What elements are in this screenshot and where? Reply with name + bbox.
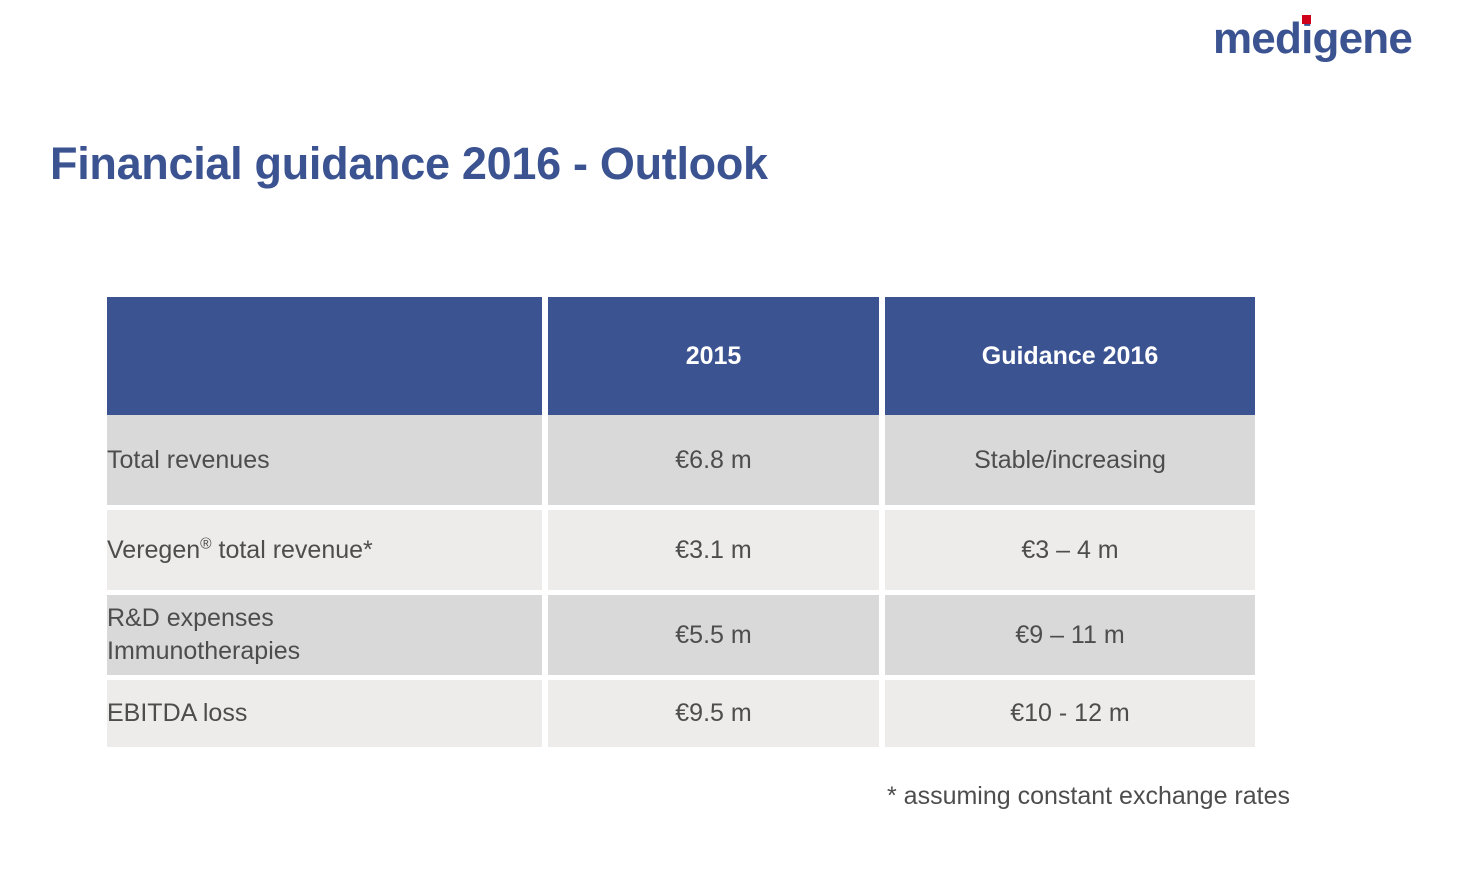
row-value-2016-ebitda-loss: €10 - 12 m (885, 680, 1255, 747)
veregen-suffix: total revenue* (212, 536, 373, 564)
financial-guidance-table: 2015 Guidance 2016 Total revenues €6.8 m… (107, 297, 1255, 747)
row-value-2015-rd-expenses: €5.5 m (548, 595, 885, 680)
row-label-veregen-total-revenue: Veregen® total revenue* (107, 510, 548, 595)
footnote-text: * assuming constant exchange rates (887, 782, 1290, 811)
row-label-ebitda-loss: EBITDA loss (107, 680, 548, 747)
column-header-guidance-2016: Guidance 2016 (885, 297, 1255, 415)
logo-letter-i: i (1301, 17, 1312, 61)
column-header-2015: 2015 (548, 297, 885, 415)
row-label-total-revenues: Total revenues (107, 415, 548, 510)
rd-expenses-line2: Immunotherapies (107, 637, 300, 665)
rd-expenses-line1: R&D expenses (107, 604, 274, 632)
medigene-logo: medigene (1213, 17, 1412, 61)
table-row: R&D expensesImmunotherapies €5.5 m €9 – … (107, 595, 1255, 680)
table-row: Veregen® total revenue* €3.1 m €3 – 4 m (107, 510, 1255, 595)
table-row: EBITDA loss €9.5 m €10 - 12 m (107, 680, 1255, 747)
row-label-rd-expenses-immunotherapies: R&D expensesImmunotherapies (107, 595, 548, 680)
veregen-name: Veregen (107, 536, 200, 564)
column-header-label (107, 297, 548, 415)
row-value-2016-total-revenues: Stable/increasing (885, 415, 1255, 510)
row-value-2016-rd-expenses: €9 – 11 m (885, 595, 1255, 680)
registered-trademark-icon: ® (200, 535, 211, 552)
page-title: Financial guidance 2016 - Outlook (50, 138, 768, 190)
logo-text-med: med (1213, 14, 1301, 63)
logo-red-dot-icon (1302, 15, 1311, 24)
table-header-row: 2015 Guidance 2016 (107, 297, 1255, 415)
logo-text-gene: gene (1313, 14, 1413, 63)
table-row: Total revenues €6.8 m Stable/increasing (107, 415, 1255, 510)
row-value-2015-veregen: €3.1 m (548, 510, 885, 595)
row-value-2015-total-revenues: €6.8 m (548, 415, 885, 510)
row-value-2015-ebitda-loss: €9.5 m (548, 680, 885, 747)
row-value-2016-veregen: €3 – 4 m (885, 510, 1255, 595)
